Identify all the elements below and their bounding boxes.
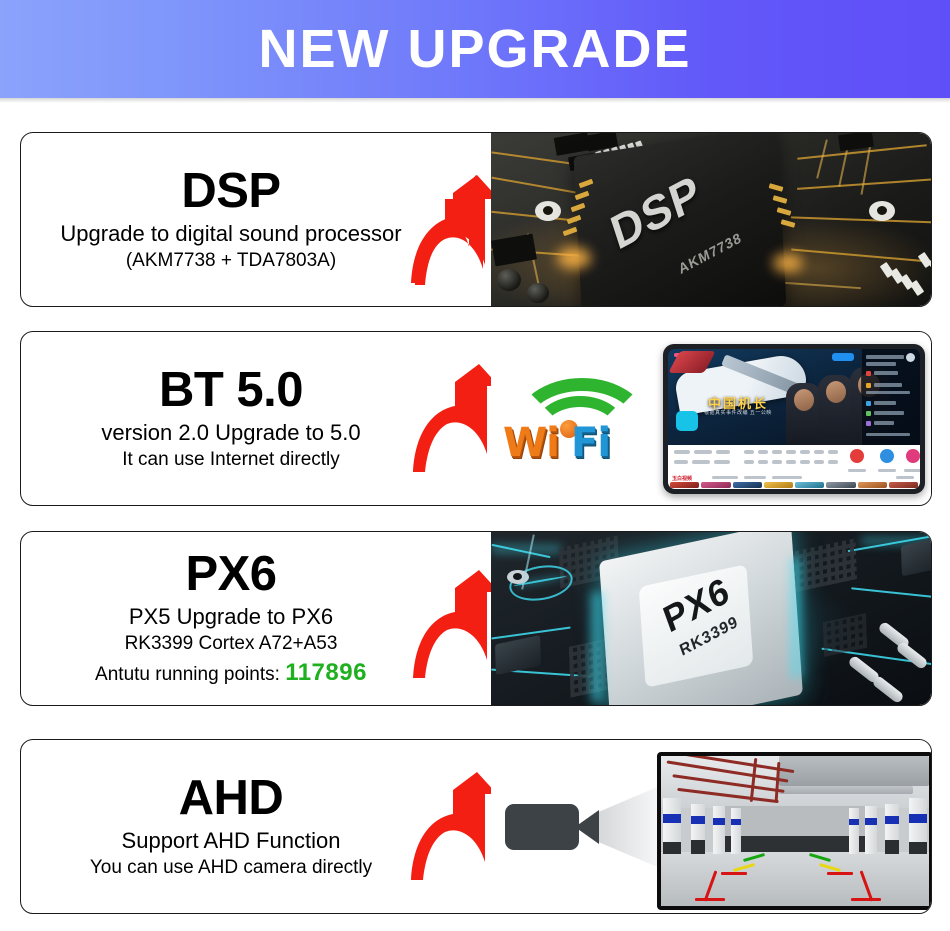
card-px6-headline: PX6 <box>185 549 276 600</box>
hero-subtitle: 根据真实事件改编 五一公映 <box>704 409 772 416</box>
card-ahd-headline: AHD <box>179 773 284 824</box>
card-bt-image: Wi Fi <box>491 332 931 505</box>
up-arrow-icon <box>403 362 503 482</box>
card-dsp-text-area: DSP Upgrade to digital sound processor (… <box>21 133 491 306</box>
card-bt-headline: BT 5.0 <box>159 365 303 416</box>
video-sidebar <box>861 349 920 445</box>
card-px6-line2: RK3399 Cortex A72+A53 <box>125 633 338 656</box>
wifi-logo-icon: Wi Fi <box>505 374 635 466</box>
guideline-red-bottom-left <box>695 898 725 901</box>
card-ahd-line1: Support AHD Function <box>122 828 341 854</box>
card-ahd-line2: You can use AHD camera directly <box>90 857 372 880</box>
feature-card-dsp: DSP Upgrade to digital sound processor (… <box>20 132 932 307</box>
channel-logo <box>676 411 698 431</box>
section-label: 玉白视频 <box>672 475 692 482</box>
antutu-label: Antutu running points: <box>95 664 285 685</box>
list-item[interactable] <box>795 482 824 488</box>
card-px6-image: PX6 RK3399 <box>491 532 931 705</box>
card-dsp-headline: DSP <box>181 166 280 217</box>
quick-action-2[interactable] <box>880 449 894 463</box>
card-dsp-line2: (AKM7738 + TDA7803A) <box>126 250 336 273</box>
header-banner: NEW UPGRADE <box>0 0 950 98</box>
card-dsp-image: DSP AKM7738 <box>491 133 931 306</box>
video-hero-banner: 中国机长 根据真实事件改编 五一公映 <box>668 349 920 445</box>
up-arrow-icon <box>401 770 501 890</box>
promo-page: NEW UPGRADE DSP Upgrade to digital sound… <box>0 0 950 931</box>
list-item[interactable] <box>764 482 793 488</box>
feature-card-ahd: AHD Support AHD Function You can use AHD… <box>20 739 932 914</box>
feature-card-px6: PX6 PX5 Upgrade to PX6 RK3399 Cortex A72… <box>20 531 932 706</box>
banner-shadow <box>0 98 950 103</box>
guideline-red-mid-left <box>721 872 747 875</box>
list-item[interactable] <box>733 482 762 488</box>
category-filter-bar: 玉白视频 <box>668 445 920 481</box>
thumbnail-strip <box>668 481 920 489</box>
list-item[interactable] <box>889 482 918 488</box>
antutu-score: 117896 <box>285 659 367 686</box>
card-dsp-line1: Upgrade to digital sound processor <box>60 221 401 247</box>
dsp-circuit-board: DSP AKM7738 <box>491 133 931 306</box>
quick-action-3[interactable] <box>906 449 920 463</box>
up-arrow-icon <box>403 568 503 688</box>
card-bt-line1: version 2.0 Upgrade to 5.0 <box>101 420 360 446</box>
quick-action-1[interactable] <box>850 449 864 463</box>
guideline-red-bottom-right <box>851 898 881 901</box>
tablet-device: 中国机长 根据真实事件改编 五一公映 <box>663 344 925 494</box>
page-title: NEW UPGRADE <box>258 22 691 76</box>
card-bt-text-area: BT 5.0 version 2.0 Upgrade to 5.0 It can… <box>21 332 491 505</box>
guideline-red-mid-right <box>827 872 853 875</box>
avatar[interactable] <box>906 353 915 362</box>
wifi-text-fi: Fi <box>571 420 610 466</box>
card-px6-line1: PX5 Upgrade to PX6 <box>129 604 333 630</box>
parking-garage-photo <box>657 752 931 910</box>
px6-circuit-board: PX6 RK3399 <box>491 532 931 705</box>
list-item[interactable] <box>858 482 887 488</box>
card-px6-text-area: PX6 PX5 Upgrade to PX6 RK3399 Cortex A72… <box>21 532 491 705</box>
feature-card-bt: BT 5.0 version 2.0 Upgrade to 5.0 It can… <box>20 331 932 506</box>
card-px6-line3: Antutu running points: 117896 <box>95 659 367 688</box>
list-item[interactable] <box>701 482 730 488</box>
card-ahd-image <box>491 740 931 913</box>
list-item[interactable] <box>826 482 855 488</box>
card-bt-line2: It can use Internet directly <box>122 449 340 472</box>
wifi-text-wi: Wi <box>503 420 559 466</box>
up-arrow-icon <box>401 173 501 293</box>
card-ahd-text-area: AHD Support AHD Function You can use AHD… <box>21 740 491 913</box>
list-item[interactable] <box>670 482 699 488</box>
hero-play-button[interactable] <box>832 353 854 361</box>
video-camera-icon <box>501 782 661 872</box>
tablet-screen: 中国机长 根据真实事件改编 五一公映 <box>668 349 920 489</box>
